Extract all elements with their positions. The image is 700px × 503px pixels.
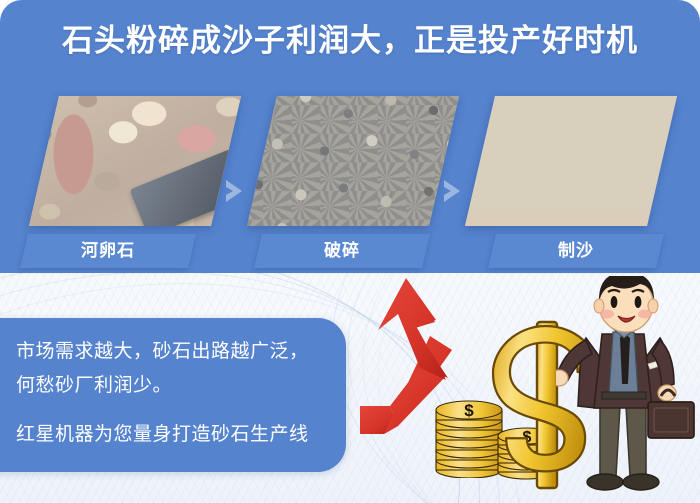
manufactured-sand-photo [465, 96, 677, 226]
page-title: 石头粉碎成沙子利润大，正是投产好时机 [0, 24, 700, 58]
chevron-right-icon [440, 176, 466, 206]
process-step-label-text: 破碎 [258, 234, 426, 268]
promo-banner: 石头粉碎成沙子利润大，正是投产好时机 河卵石 破碎 制沙 [0, 0, 700, 503]
process-step-label-2: 破碎 [254, 234, 430, 268]
river-pebbles-photo [29, 96, 241, 226]
process-step-label-text: 制沙 [492, 234, 660, 268]
process-step-label-text: 河卵石 [24, 234, 192, 268]
chevron-right-icon [222, 176, 248, 206]
businessman-with-briefcase [556, 276, 700, 503]
message-line-3: 红星机器为您量身打造砂石生产线 [16, 419, 309, 446]
message-line-1: 市场需求越大，砂石出路越广泛， [16, 336, 309, 363]
process-photo-crushed-gravel [247, 96, 459, 226]
process-photo-manufactured-sand [465, 96, 677, 226]
process-step-label-1: 河卵石 [20, 234, 196, 268]
message-panel: 市场需求越大，砂石出路越广泛， 何愁砂厂利润少。 红星机器为您量身打造砂石生产线 [0, 318, 346, 472]
process-photo-river-pebbles [29, 96, 241, 226]
crushed-gravel-photo [247, 96, 459, 226]
process-step-label-3: 制沙 [488, 234, 664, 268]
message-line-2: 何愁砂厂利润少。 [16, 370, 172, 397]
svg-text:$: $ [464, 401, 474, 420]
